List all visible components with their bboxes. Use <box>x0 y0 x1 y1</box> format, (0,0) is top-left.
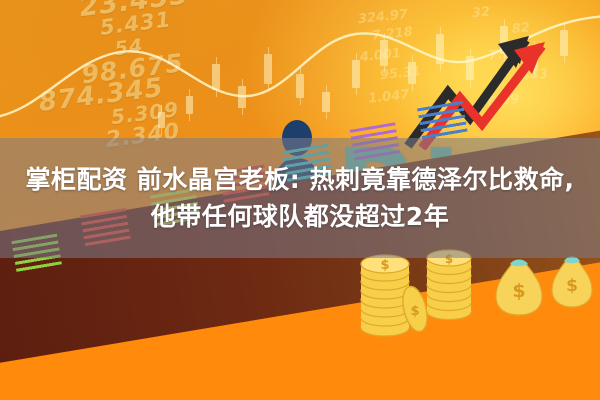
headline: 掌柜配资 前水晶宫老板: 热刺竟靠德泽尔比救命, 他带任何球队都没超过2年 <box>0 138 600 258</box>
thumbnail-image: 23.453 5.431 54 98.675 874.345 5.309 2.3… <box>0 0 600 400</box>
headline-line-1: 掌柜配资 前水晶宫老板: 热刺竟靠德泽尔比救命, <box>26 164 575 195</box>
tilted-coin: $ <box>398 284 432 334</box>
money-bag-left: $ <box>492 252 546 318</box>
money-bag-right: $ <box>548 250 596 310</box>
money-bag-dollar-symbol: $ <box>512 280 525 302</box>
money-bag-dollar-symbol: $ <box>566 276 578 296</box>
headline-line-2: 他带任何球队都没超过2年 <box>151 201 449 232</box>
coin-dollar-symbol: $ <box>410 304 419 319</box>
coin-dollar-symbol: $ <box>380 258 389 273</box>
